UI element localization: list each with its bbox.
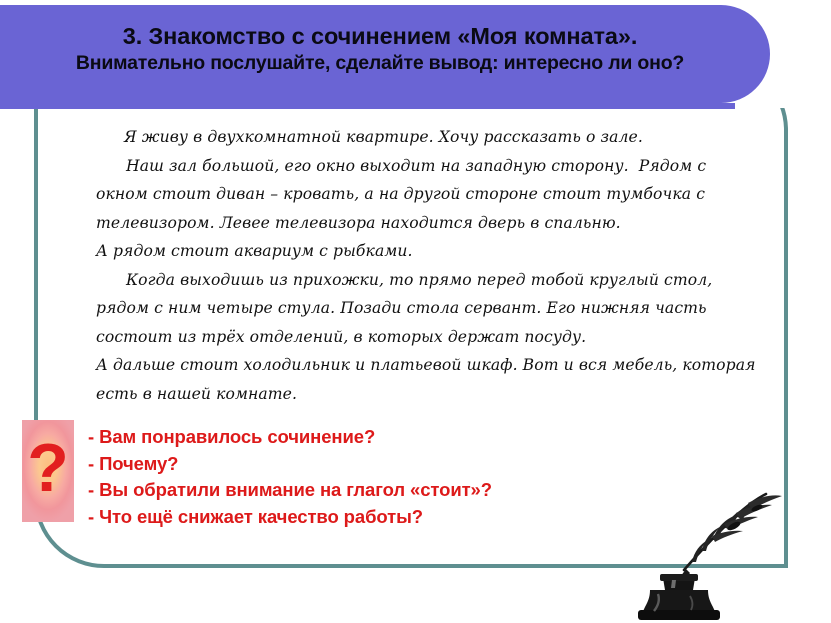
title-banner-text: 3. Знакомство с сочинением «Моя комната»… [0,0,760,98]
list-item: - Почему? [88,451,492,478]
page-subtitle: Внимательно послушайте, сделайте вывод: … [76,53,684,75]
essay-paragraph: А дальше стоит холодильник и платьевой ш… [96,351,756,408]
banner-underline-bar [0,103,735,109]
question-mark-icon: ? [22,420,74,522]
quill-pen-icon [620,470,800,620]
page-title: 3. Знакомство с сочинением «Моя комната»… [123,23,638,49]
list-item: - Вам понравилось сочинение? [88,424,492,451]
essay-paragraph: А рядом стоит аквариум с рыбками. [96,237,756,266]
slide-canvas: 3. Знакомство с сочинением «Моя комната»… [0,0,831,623]
question-mark-badge: ? [22,420,74,522]
essay-text-block: Я живу в двухкомнатной квартире. Хочу ра… [96,123,756,408]
essay-paragraph: Я живу в двухкомнатной квартире. Хочу ра… [96,123,756,152]
list-item: - Что ещё снижает качество работы? [88,504,492,531]
essay-paragraph: Когда выходишь из прихожки, то прямо пер… [96,266,756,352]
essay-paragraph: Наш зал большой, его окно выходит на зап… [96,152,756,238]
discussion-question-list: - Вам понравилось сочинение? - Почему? -… [88,424,492,530]
list-item: - Вы обратили внимание на глагол «стоит»… [88,477,492,504]
